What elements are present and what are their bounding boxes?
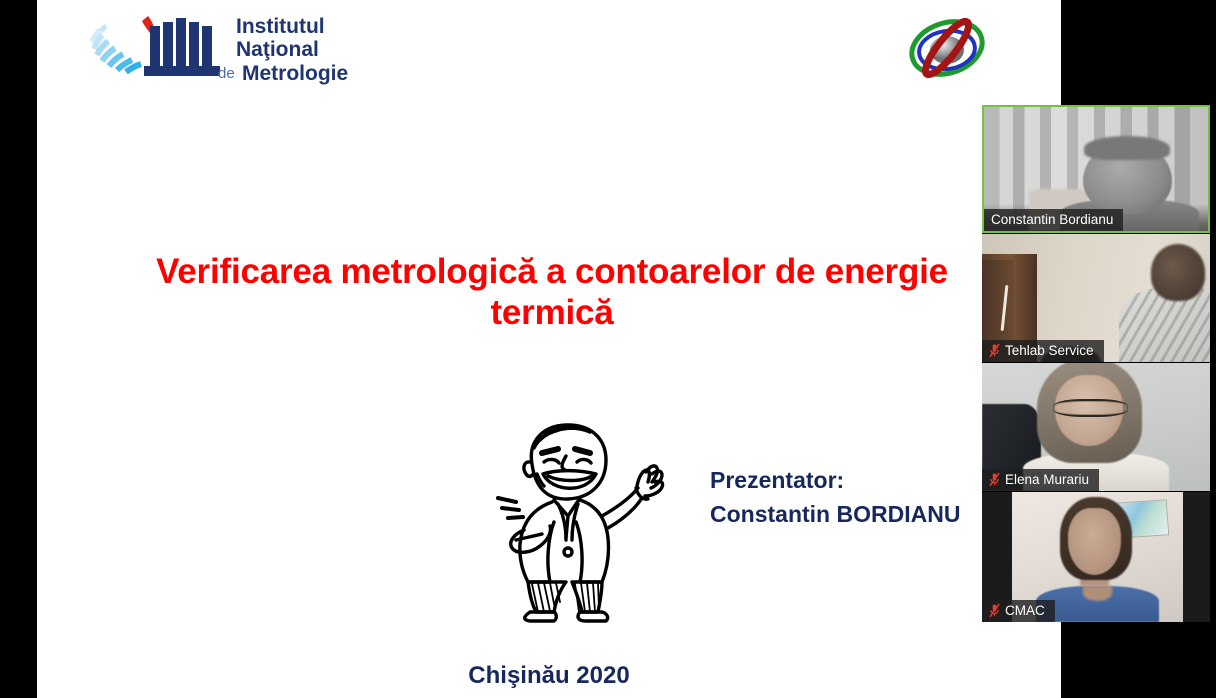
participant-name: CMAC [1005,602,1045,619]
svg-text:de: de [218,65,235,82]
microphone-muted-icon [989,343,1000,358]
participant-name: Tehlab Service [1005,342,1094,359]
microphone-muted-icon [989,603,1000,618]
microphone-muted-icon [989,472,1000,487]
participant-tile[interactable]: Constantin Bordianu [982,105,1210,233]
participant-name-label: Elena Murariu [982,469,1099,491]
presenter-label: Prezentator: [710,463,960,497]
participant-name-label: Tehlab Service [982,340,1104,362]
participant-video-filmstrip: Constantin Bordianu [982,105,1210,622]
page-title: Verificarea metrologică a contoarelor de… [147,251,957,333]
cartoon-man-waving [480,412,670,624]
participant-name: Elena Murariu [1005,471,1089,488]
participant-name-label: Constantin Bordianu [984,209,1123,231]
slide-footer-location-year: Chişinău 2020 [37,662,1061,690]
svg-text:Institutul: Institutul [236,15,325,38]
participant-name: Constantin Bordianu [991,211,1113,228]
participant-tile[interactable]: Elena Murariu [982,363,1210,491]
screen-share-view: Institutul Naţional de Metrologie Ver [0,0,1216,698]
presenter-name: Constantin BORDIANU [710,497,960,531]
institutul-national-de-metrologie-logo: Institutul Naţional de Metrologie [84,8,404,88]
presenter-block: Prezentator: Constantin BORDIANU [710,463,960,531]
participant-name-label: CMAC [982,600,1055,622]
svg-text:Metrologie: Metrologie [242,62,348,85]
svg-text:Naţional: Naţional [236,38,319,61]
participant-tile[interactable]: CMAC [982,492,1210,622]
presentation-slide: Institutul Naţional de Metrologie Ver [37,0,1061,698]
participant-tile[interactable]: Tehlab Service [982,234,1210,362]
atom-orbit-logo [905,6,989,90]
